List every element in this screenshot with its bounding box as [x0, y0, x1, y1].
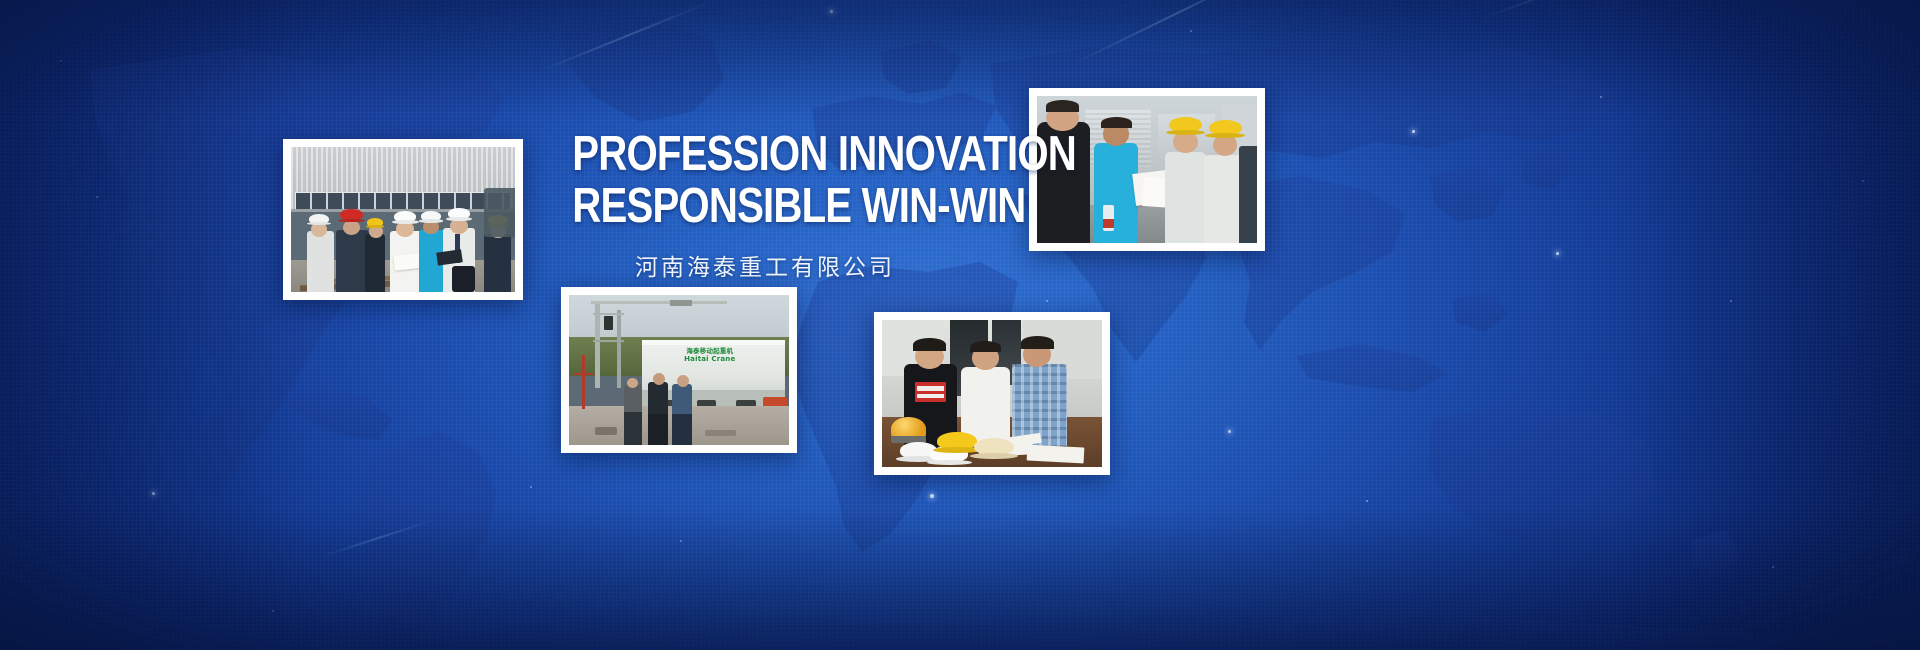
particle-star [1556, 252, 1559, 255]
particle-star [1366, 500, 1368, 502]
particle-star [1862, 180, 1864, 182]
crane-sign: 海泰移动起重机 Haitai Crane [648, 345, 771, 368]
particle-star [930, 494, 934, 498]
particle-star [680, 540, 682, 542]
particle-star [152, 492, 155, 495]
particle-star [830, 10, 833, 13]
light-streak-4 [320, 519, 435, 558]
light-streak-2 [1075, 0, 1283, 64]
site-inspection-photo [283, 139, 523, 300]
light-streak-3 [1480, 0, 1622, 20]
particle-star [1600, 96, 1602, 98]
hero-banner: 海泰移动起重机 Haitai Crane [0, 0, 1920, 650]
banner-copy: PROFESSION INNOVATION RESPONSIBLE WIN-WI… [530, 128, 1000, 282]
company-name-subtitle: 河南海泰重工有限公司 [530, 248, 1000, 282]
particle-star [60, 60, 62, 62]
haitai-crane-photo: 海泰移动起重机 Haitai Crane [561, 287, 797, 453]
particle-star [530, 486, 532, 488]
particle-star [1228, 430, 1231, 433]
training-session-photo [874, 312, 1110, 475]
headline-line-2: RESPONSIBLE WIN-WIN [572, 180, 957, 232]
light-streak-1 [540, 0, 717, 72]
crane-sign-cn: 海泰移动起重机 [686, 348, 733, 355]
particle-star [1412, 130, 1415, 133]
particle-star [1730, 300, 1732, 302]
particle-star [272, 610, 274, 612]
crane-sign-en: Haitai Crane [684, 356, 735, 363]
particle-star [96, 196, 98, 198]
particle-star [1046, 300, 1048, 302]
particle-star [1190, 30, 1192, 32]
headline-line-1: PROFESSION INNOVATION [572, 128, 957, 180]
particle-star [1772, 566, 1774, 568]
